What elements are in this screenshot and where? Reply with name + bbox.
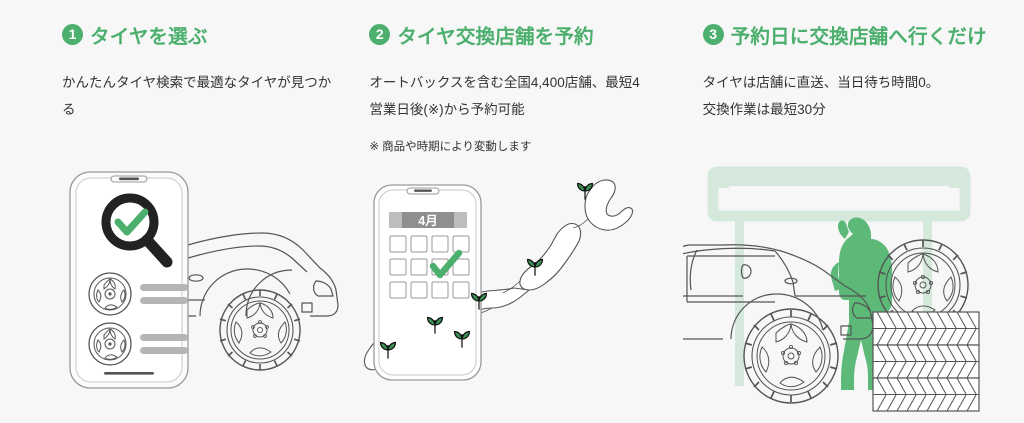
- smartphone-device: [70, 172, 188, 388]
- step-3-body-line-2: 交換作業は最短30分: [703, 96, 979, 123]
- signboard-post-left: [735, 216, 744, 386]
- calendar-widget: 4月: [389, 212, 469, 298]
- step-2-heading-label: タイヤ交換店舗を予約: [397, 20, 593, 49]
- store-pin-markers: [381, 184, 593, 359]
- calendar-grid: [390, 236, 469, 298]
- calendar-month-label: 4月: [419, 214, 438, 228]
- step-3-heading: 3 予約日に交換店舗へ行くだけ: [703, 20, 1016, 49]
- step-1-heading: 1 タイヤを選ぶ: [62, 20, 331, 49]
- person-silhouette: [830, 217, 891, 390]
- step-1-illustration: [0, 0, 341, 423]
- calendar-selected-check: [433, 253, 459, 275]
- tire-stack: [873, 312, 979, 411]
- car-wheel: [220, 290, 300, 370]
- signboard-post-right: [923, 216, 932, 386]
- step-1-body-text: かんたんタイヤ検索で最適なタイヤが見つかる: [62, 69, 331, 123]
- car-outline: [150, 233, 338, 316]
- tire-stack-item: [873, 345, 979, 378]
- step-2-heading: 2 タイヤ交換店舗を予約: [369, 20, 672, 49]
- step-card-2: 2 タイヤ交換店舗を予約 オートバックスを含む全国4,400店舗、最短4営業日後…: [341, 0, 682, 423]
- japan-map-inner-lines: [474, 219, 588, 315]
- step-3-number-badge: 3: [703, 24, 724, 45]
- step-2-note-text: ※ 商品や時期により変動します: [369, 137, 672, 158]
- car-outline: [683, 245, 873, 339]
- tire-stack-item: [873, 378, 979, 411]
- step-2-number-badge: 2: [369, 24, 390, 45]
- step-2-body-text: オートバックスを含む全国4,400店舗、最短4営業日後(※)から予約可能: [369, 69, 645, 123]
- shop-signboard: [713, 172, 965, 386]
- steps-container: 1 タイヤを選ぶ かんたんタイヤ検索で最適なタイヤが見つかる: [0, 0, 1024, 423]
- step-3-body-line-1: タイヤは店舗に直送、当日待ち時間0。: [703, 69, 979, 96]
- tire-list-item-2: [89, 323, 188, 365]
- smartphone-device: [374, 185, 481, 380]
- step-3-illustration: [683, 0, 1024, 423]
- japan-map-outline: [365, 180, 633, 370]
- car-wheel: [744, 309, 838, 403]
- step-card-3: 3 予約日に交換店舗へ行くだけ タイヤは店舗に直送、当日待ち時間0。 交換作業は…: [683, 0, 1024, 423]
- how-it-works-section: 1 タイヤを選ぶ かんたんタイヤ検索で最適なタイヤが見つかる: [0, 0, 1024, 423]
- step-1-heading-label: タイヤを選ぶ: [90, 20, 208, 49]
- step-card-1: 1 タイヤを選ぶ かんたんタイヤ検索で最適なタイヤが見つかる: [0, 0, 341, 423]
- spare-wheel: [878, 240, 968, 330]
- tire-list-item-1: [89, 273, 188, 315]
- tire-stack-item: [873, 312, 979, 345]
- step-2-illustration: 4月: [341, 0, 682, 423]
- step-1-number-badge: 1: [62, 24, 83, 45]
- step-3-heading-label: 予約日に交換店舗へ行くだけ: [731, 20, 987, 49]
- magnifier-check-icon: [106, 198, 167, 262]
